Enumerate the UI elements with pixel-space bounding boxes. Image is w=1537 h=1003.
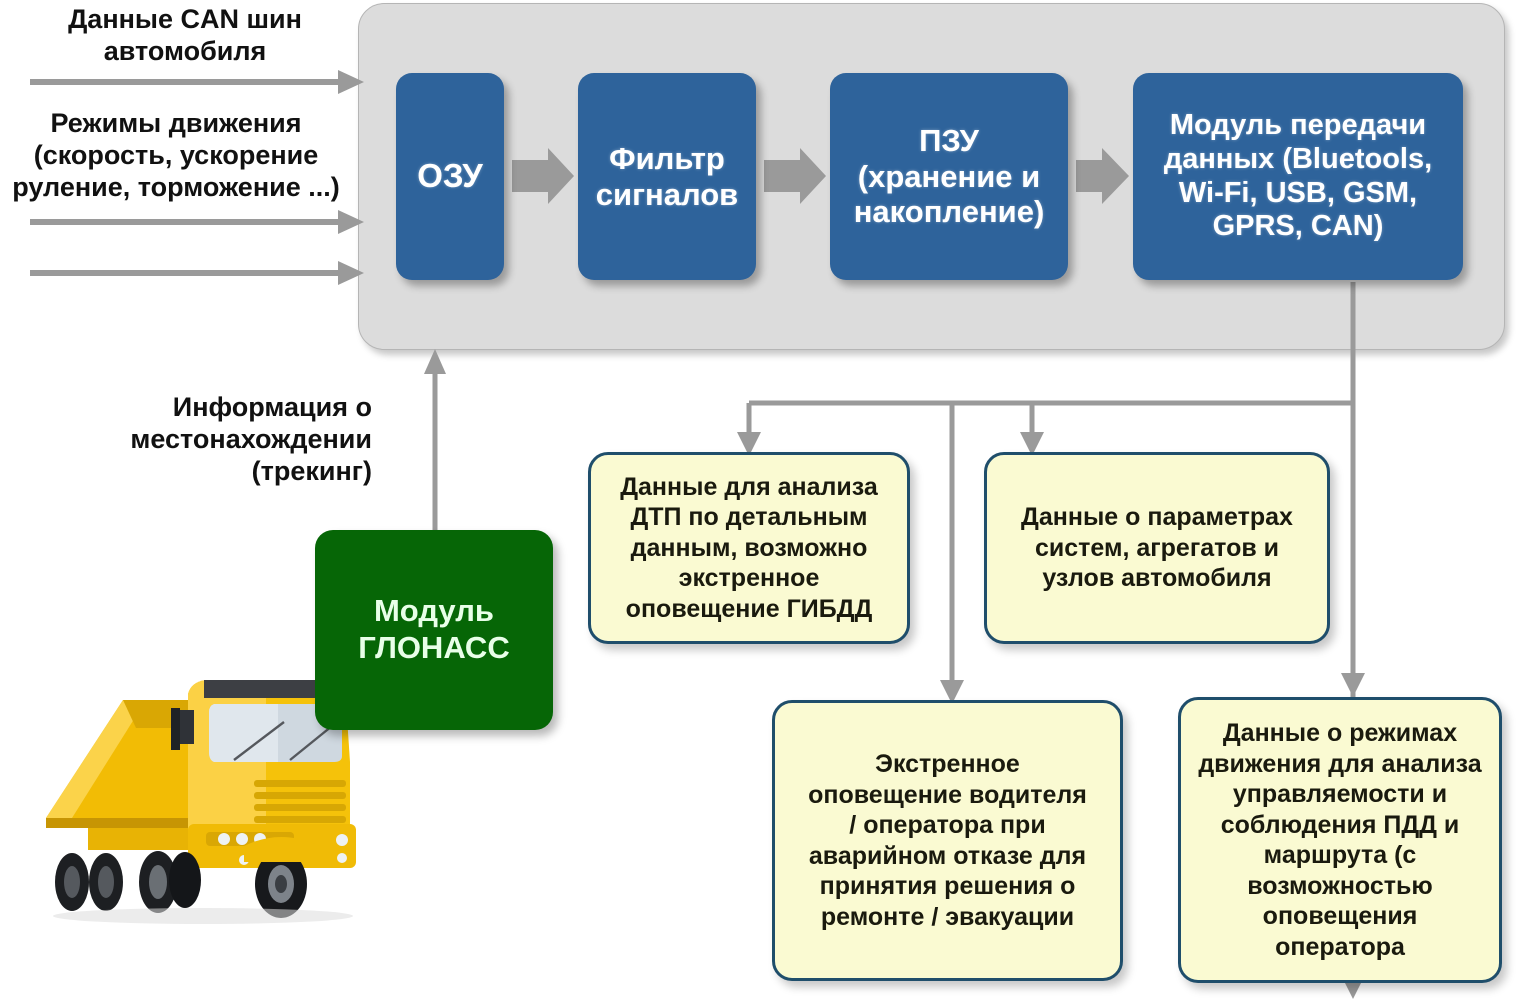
process-box-pzu-label: ПЗУ (хранение и накопление) <box>854 123 1045 231</box>
process-box-pzu[interactable]: ПЗУ (хранение и накопление) <box>830 73 1068 280</box>
module-glonass-label: Модуль ГЛОНАСС <box>358 593 509 666</box>
output-box-emergency-notification[interactable]: Экстренное оповещение водителя / операто… <box>772 700 1123 981</box>
output-box-vehicle-parameters-label: Данные о параметрах систем, агрегатов и … <box>1021 502 1293 594</box>
input-arrow-drive-modes <box>30 210 364 234</box>
input-arrow-spare <box>30 261 364 285</box>
process-box-ozu[interactable]: ОЗУ <box>396 73 504 280</box>
output-box-accident-analysis[interactable]: Данные для анализа ДТП по детальным данн… <box>588 452 910 644</box>
process-box-ozu-label: ОЗУ <box>417 157 483 195</box>
process-box-signal-filter[interactable]: Фильтр сигналов <box>578 73 756 280</box>
input-label-tracking: Информация о местонахождении (трекинг) <box>60 392 372 488</box>
process-box-data-transfer-label: Модуль передачи данных (Bluetools, Wi-Fi… <box>1164 109 1432 244</box>
diagram-canvas: Данные CAN шин автомобиля Режимы движени… <box>0 0 1537 1003</box>
process-box-signal-filter-label: Фильтр сигналов <box>596 141 738 213</box>
output-box-driving-modes[interactable]: Данные о режимах движения для анализа уп… <box>1178 697 1502 983</box>
glonass-uplink <box>424 349 446 532</box>
input-label-drive-modes: Режимы движения (скорость, ускорение рул… <box>0 108 352 204</box>
input-arrow-can <box>30 70 364 94</box>
output-box-vehicle-parameters[interactable]: Данные о параметрах систем, агрегатов и … <box>984 452 1330 644</box>
process-box-data-transfer[interactable]: Модуль передачи данных (Bluetools, Wi-Fi… <box>1133 73 1463 280</box>
input-label-can-bus: Данные CAN шин автомобиля <box>20 4 350 68</box>
module-glonass[interactable]: Модуль ГЛОНАСС <box>315 530 553 730</box>
output-box-accident-analysis-label: Данные для анализа ДТП по детальным данн… <box>620 472 878 625</box>
output-box-driving-modes-label: Данные о режимах движения для анализа уп… <box>1198 718 1481 962</box>
output-box-emergency-notification-label: Экстренное оповещение водителя / операто… <box>808 749 1087 932</box>
